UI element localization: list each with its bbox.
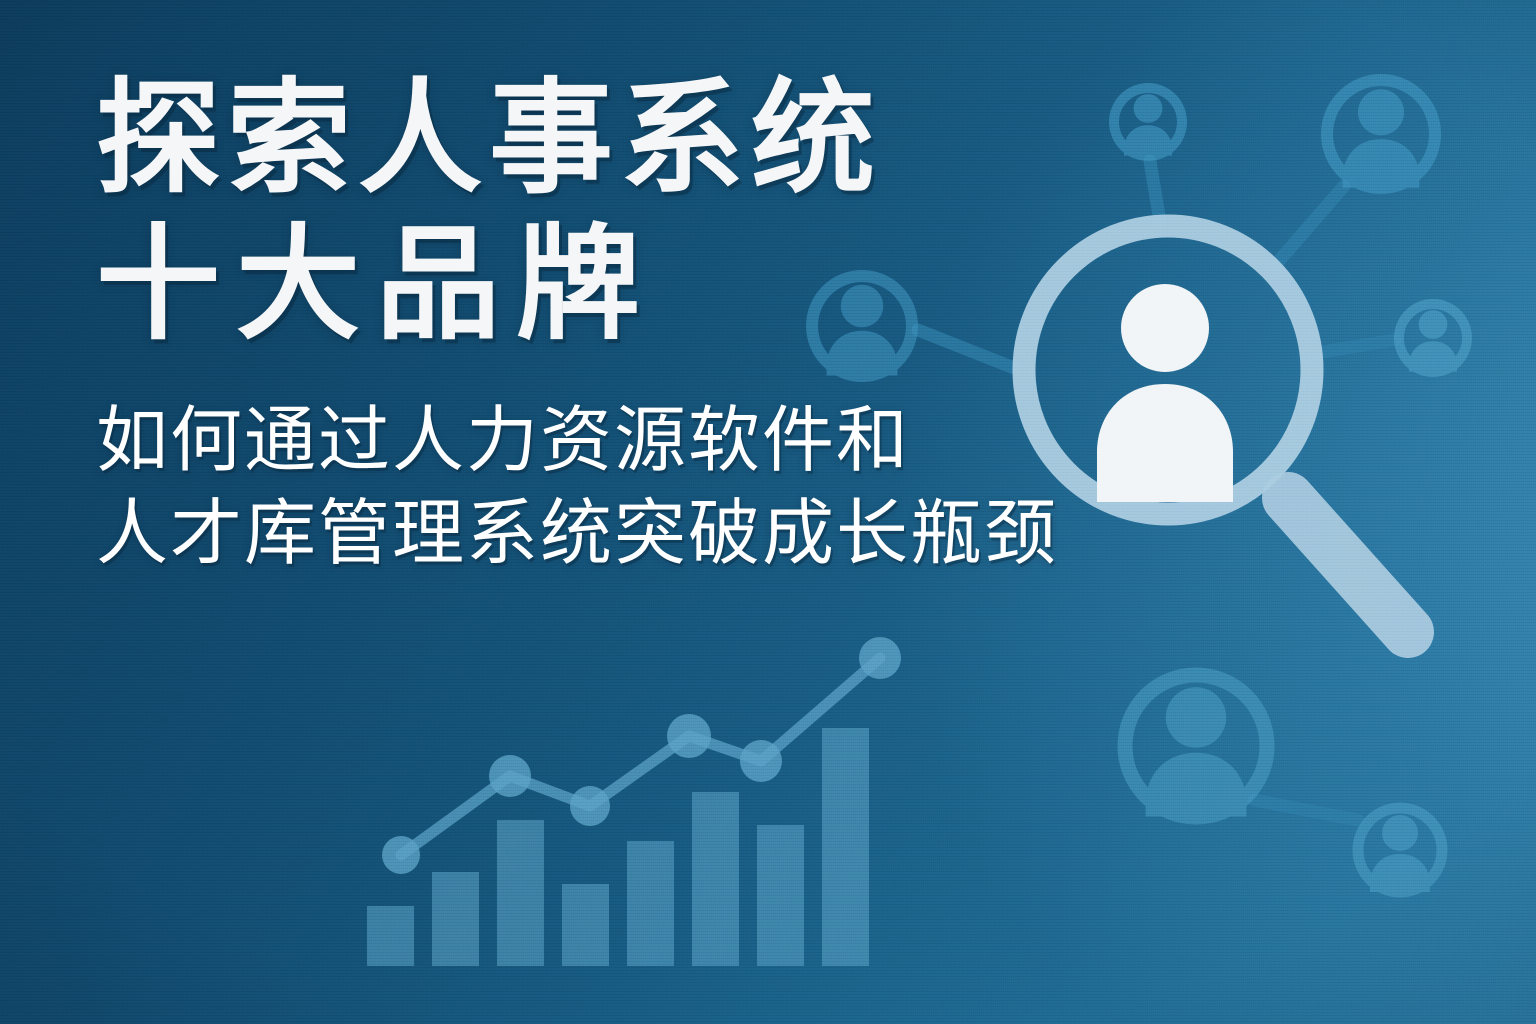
chart-bar: [432, 872, 479, 966]
chart-marker: [489, 755, 531, 797]
link-center-to-top: [1150, 161, 1160, 222]
magnifier-handle: [1288, 498, 1408, 632]
node-right: [1399, 304, 1467, 372]
link-bottom-left-to-bottom-right: [1254, 800, 1358, 820]
poster-canvas: 探索人事系统 十大品牌 如何通过人力资源软件和 人才库管理系统突破成长瓶颈: [0, 0, 1536, 1024]
chart-bar: [627, 841, 674, 966]
chart-bar: [497, 820, 544, 966]
chart-bar: [692, 792, 739, 966]
node-bottom-right: [1358, 808, 1442, 892]
title-line-2: 十大品牌: [96, 212, 1106, 358]
subtitle-line-2: 人才库管理系统突破成长瓶颈: [96, 488, 1106, 582]
chart-marker: [740, 740, 782, 782]
chart-bars: [367, 728, 869, 966]
link-center-to-topright: [1278, 186, 1344, 262]
headline-block: 探索人事系统 十大品牌 如何通过人力资源软件和 人才库管理系统突破成长瓶颈: [96, 66, 1106, 582]
node-top-center: [1114, 88, 1182, 156]
magnifier-person-icon: [1097, 284, 1233, 502]
chart-trend-line: [401, 658, 880, 855]
chart-bar: [367, 906, 414, 966]
node-top-right: [1327, 80, 1435, 188]
page-title: 探索人事系统 十大品牌: [96, 66, 1106, 359]
person-head: [1121, 284, 1209, 372]
chart-bar: [562, 884, 609, 966]
chart-marker: [570, 786, 610, 826]
chart-bar: [757, 825, 804, 966]
link-center-to-right: [1322, 340, 1395, 352]
title-line-1: 探索人事系统: [96, 66, 1106, 212]
chart-marker: [382, 836, 420, 874]
chart-bar: [822, 728, 869, 966]
chart-trend-markers: [382, 637, 901, 874]
subtitle-line-1: 如何通过人力资源软件和: [96, 395, 1106, 489]
person-body: [1097, 384, 1233, 502]
chart-marker: [859, 637, 901, 679]
node-bottom-left: [1125, 675, 1267, 817]
chart-marker: [667, 714, 711, 758]
page-subtitle: 如何通过人力资源软件和 人才库管理系统突破成长瓶颈: [96, 395, 1106, 582]
